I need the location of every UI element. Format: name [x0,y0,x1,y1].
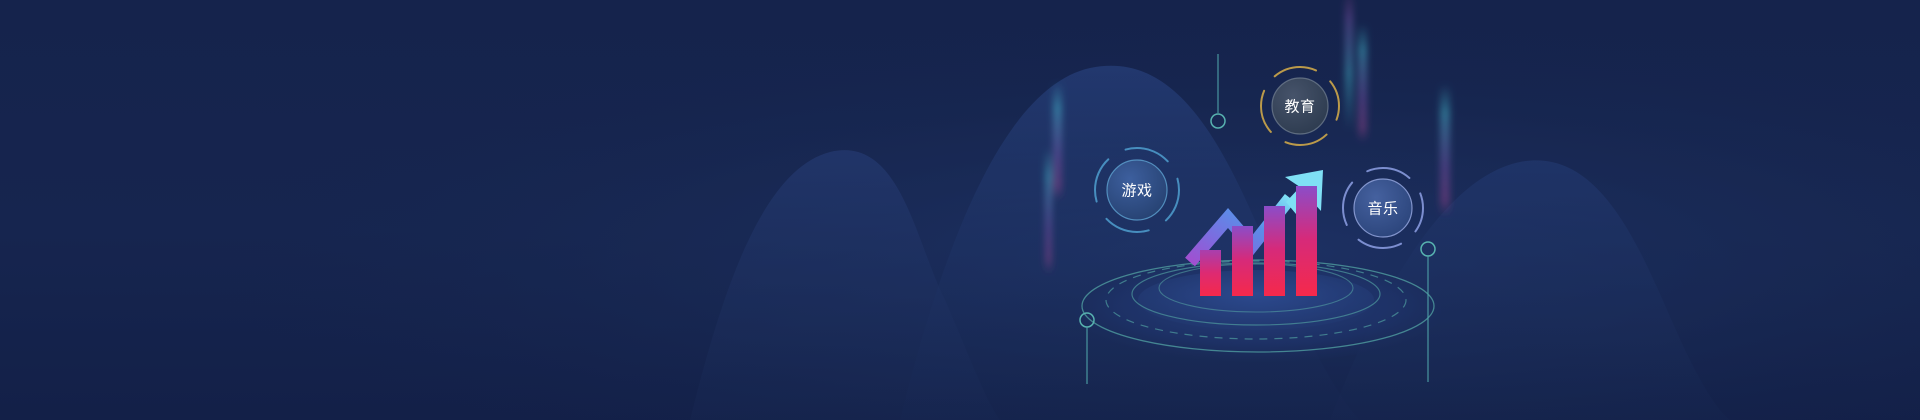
hero-banner: 游戏 教育 音乐 [0,0,1920,420]
badge-music[interactable]: 音乐 [1343,168,1423,248]
badge-education[interactable]: 教育 [1261,67,1339,145]
badge-education-label: 教育 [1284,98,1315,116]
badge-music-label: 音乐 [1367,200,1398,218]
badge-game-label: 游戏 [1121,182,1152,200]
badges-layer: 游戏 教育 音乐 [0,0,1920,420]
badge-game[interactable]: 游戏 [1095,148,1179,232]
